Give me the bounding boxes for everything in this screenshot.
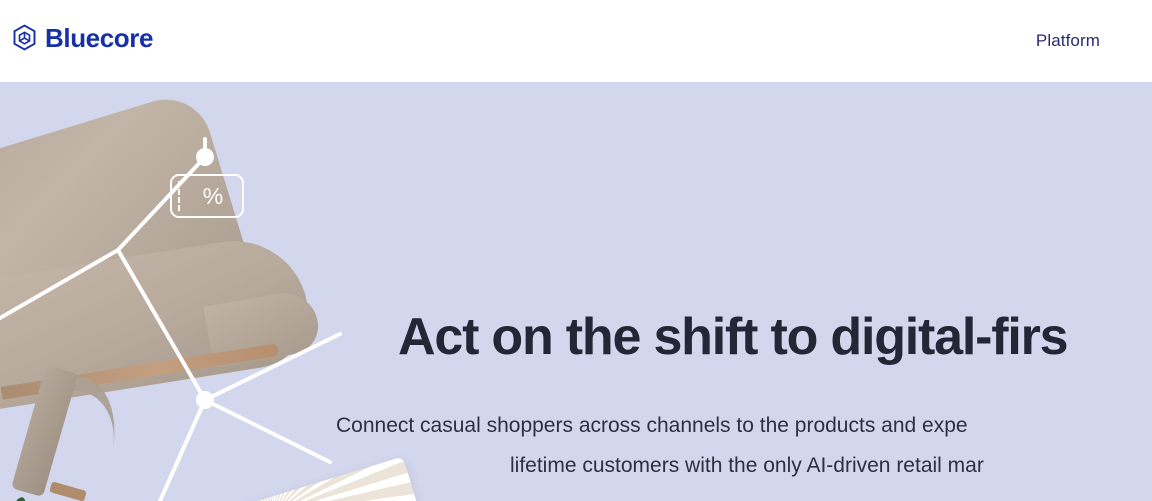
percent-coupon-icon: % bbox=[170, 174, 244, 218]
hero-subcopy-line-1: Connect casual shoppers across channels … bbox=[336, 414, 968, 437]
hero-subcopy-line-2: lifetime customers with the only AI-driv… bbox=[336, 446, 1152, 486]
coupon-perforation bbox=[178, 181, 180, 211]
main-navigation: Platform bbox=[1036, 0, 1152, 82]
hero-subcopy: Connect casual shoppers across channels … bbox=[336, 406, 1152, 486]
hero-headline: Act on the shift to digital-firs bbox=[398, 310, 1067, 365]
percent-symbol: % bbox=[203, 185, 223, 208]
site-header: Bluecore Platform bbox=[0, 0, 1152, 82]
brand-logo[interactable]: Bluecore bbox=[12, 24, 153, 51]
cube-logo-icon bbox=[12, 24, 37, 51]
nav-link-platform[interactable]: Platform bbox=[1036, 31, 1100, 51]
brand-name: Bluecore bbox=[45, 25, 153, 51]
hero-section: % Act on the shift to digital-firs Conne… bbox=[0, 82, 1152, 501]
